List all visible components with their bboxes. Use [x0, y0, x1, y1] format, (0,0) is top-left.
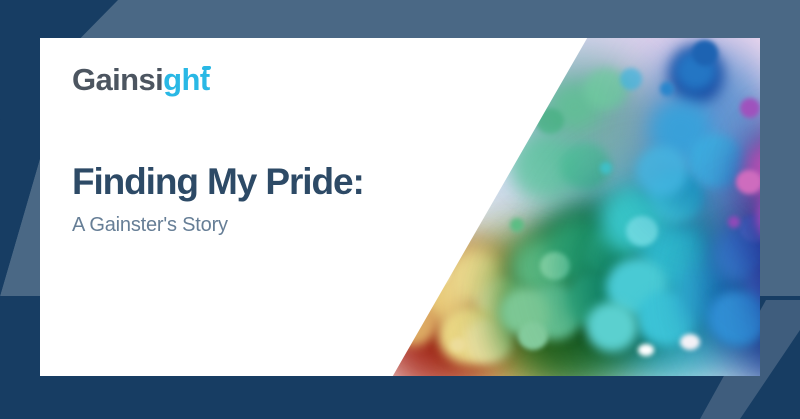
page-title: Finding My Pride:: [72, 162, 364, 202]
logo-wordmark: Gainsight: [72, 64, 210, 95]
gainsight-logo: Gainsight: [72, 64, 210, 95]
logo-text-primary: Gainsi: [72, 62, 163, 97]
page-subtitle: A Gainster's Story: [72, 213, 364, 237]
content-card: Gainsight Finding My Pride: A Gainster's…: [40, 38, 760, 376]
logo-tick-icon: [201, 66, 211, 70]
headline-block: Finding My Pride: A Gainster's Story: [72, 162, 364, 237]
promo-banner: Gainsight Finding My Pride: A Gainster's…: [0, 0, 800, 419]
